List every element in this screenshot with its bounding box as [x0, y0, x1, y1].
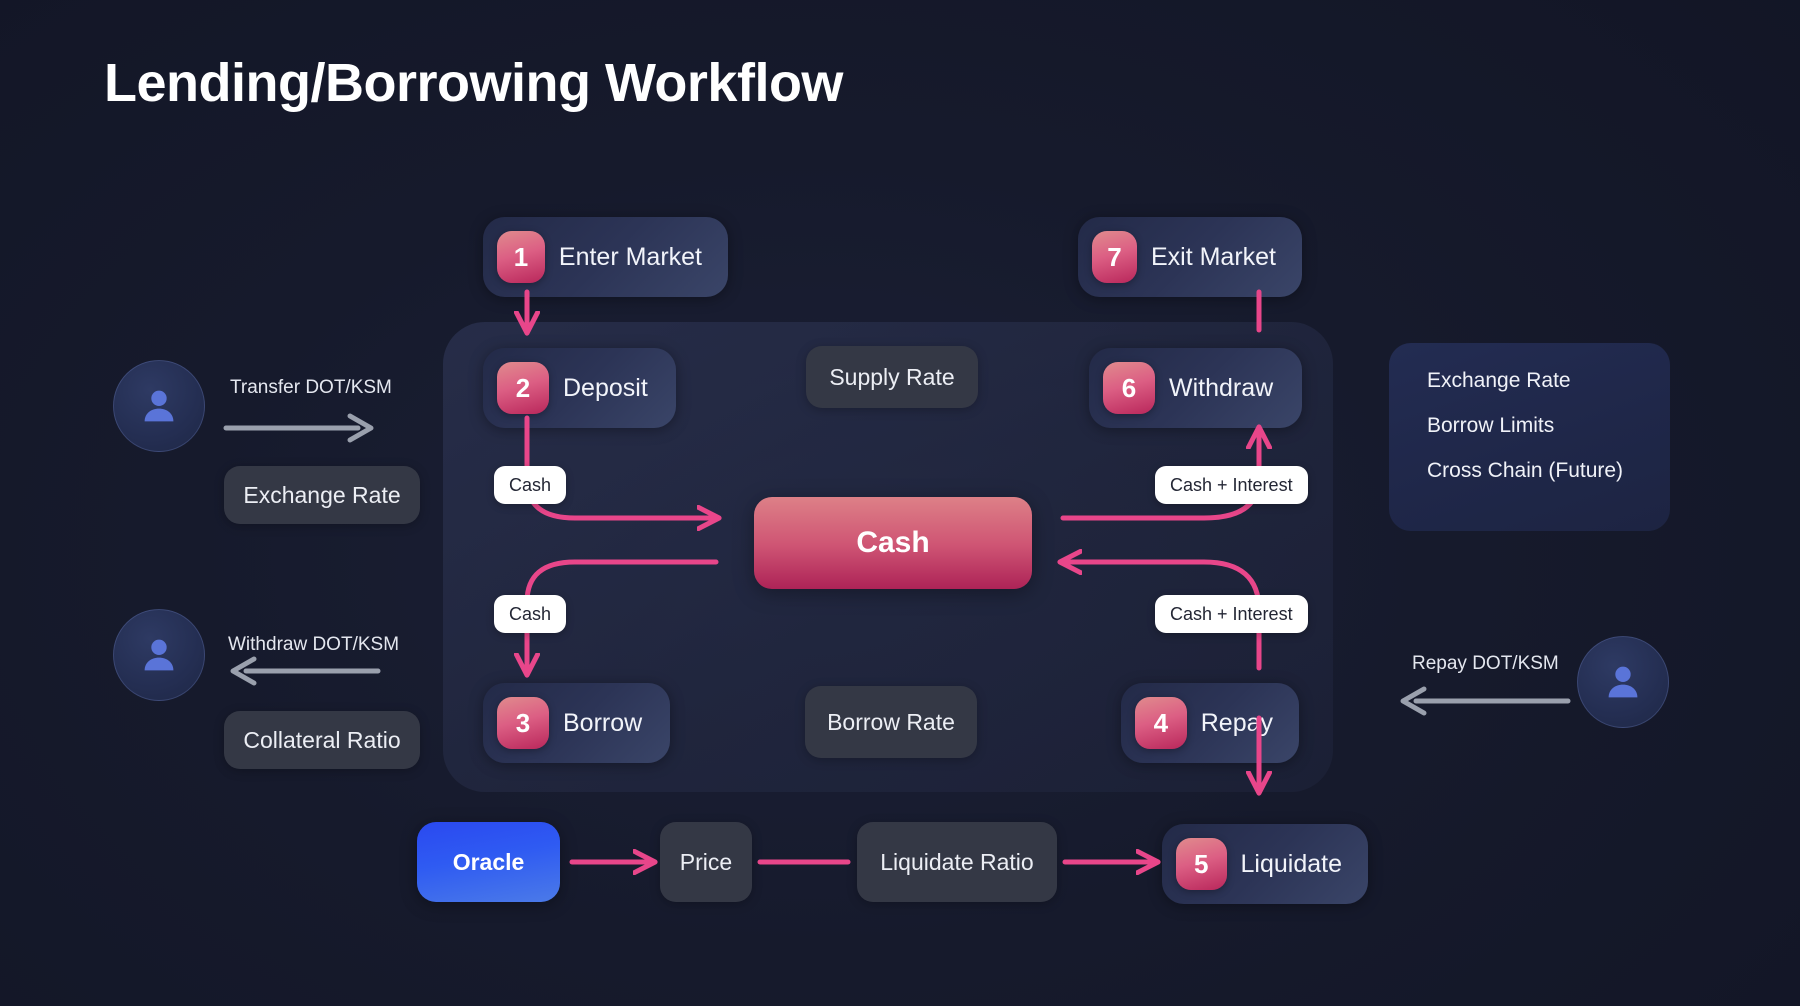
step-withdraw[interactable]: 6 Withdraw: [1089, 348, 1302, 428]
annotation-transfer-label: Transfer DOT/KSM: [230, 377, 392, 399]
step-badge-3: 3: [497, 697, 549, 749]
pill-withdraw-cash-interest: Cash + Interest: [1155, 466, 1308, 504]
annotation-repay-arrow: [1392, 683, 1572, 719]
pill-borrow-cash: Cash: [494, 595, 566, 633]
step-borrow[interactable]: 3 Borrow: [483, 683, 670, 763]
annotation-transfer-arrow: [222, 410, 382, 446]
step-badge-4: 4: [1135, 697, 1187, 749]
page-title: Lending/Borrowing Workflow: [104, 52, 843, 114]
step-exit-market[interactable]: 7 Exit Market: [1078, 217, 1302, 297]
pill-deposit-cash: Cash: [494, 466, 566, 504]
info-panel: Exchange Rate Borrow Limits Cross Chain …: [1389, 343, 1670, 531]
user-icon: [136, 383, 182, 429]
step-badge-5: 5: [1176, 838, 1227, 890]
annotation-repay-label: Repay DOT/KSM: [1412, 653, 1559, 675]
step-badge-2: 2: [497, 362, 549, 414]
step-enter-market[interactable]: 1 Enter Market: [483, 217, 728, 297]
step-badge-1: 1: [497, 231, 545, 283]
step-label-repay: Repay: [1201, 709, 1273, 738]
pill-repay-cash-interest: Cash + Interest: [1155, 595, 1308, 633]
cash-node[interactable]: Cash: [754, 497, 1032, 589]
borrow-rate-box[interactable]: Borrow Rate: [805, 686, 977, 758]
step-badge-7: 7: [1092, 231, 1137, 283]
step-label-borrow: Borrow: [563, 709, 642, 738]
collateral-ratio-pill[interactable]: Collateral Ratio: [224, 711, 420, 769]
user-icon: [1600, 659, 1646, 705]
avatar-lender: [113, 360, 205, 452]
info-item-cross-chain: Cross Chain (Future): [1427, 459, 1670, 483]
user-icon: [136, 632, 182, 678]
step-liquidate[interactable]: 5 Liquidate: [1162, 824, 1368, 904]
info-item-exchange-rate: Exchange Rate: [1427, 369, 1670, 393]
oracle-node[interactable]: Oracle: [417, 822, 560, 902]
step-label-withdraw: Withdraw: [1169, 374, 1273, 403]
step-label-exit-market: Exit Market: [1151, 243, 1276, 272]
step-repay[interactable]: 4 Repay: [1121, 683, 1299, 763]
step-deposit[interactable]: 2 Deposit: [483, 348, 676, 428]
exchange-rate-pill[interactable]: Exchange Rate: [224, 466, 420, 524]
price-box[interactable]: Price: [660, 822, 752, 902]
step-label-liquidate: Liquidate: [1241, 850, 1342, 879]
supply-rate-box[interactable]: Supply Rate: [806, 346, 978, 408]
step-label-deposit: Deposit: [563, 374, 648, 403]
info-item-borrow-limits: Borrow Limits: [1427, 414, 1670, 438]
annotation-withdraw-arrow: [222, 653, 382, 689]
avatar-repayer: [1577, 636, 1669, 728]
diagram-canvas: Lending/Borrowing Workflow: [0, 0, 1800, 1006]
avatar-borrower: [113, 609, 205, 701]
liquidate-ratio-box[interactable]: Liquidate Ratio: [857, 822, 1057, 902]
step-label-enter-market: Enter Market: [559, 243, 702, 272]
step-badge-6: 6: [1103, 362, 1155, 414]
